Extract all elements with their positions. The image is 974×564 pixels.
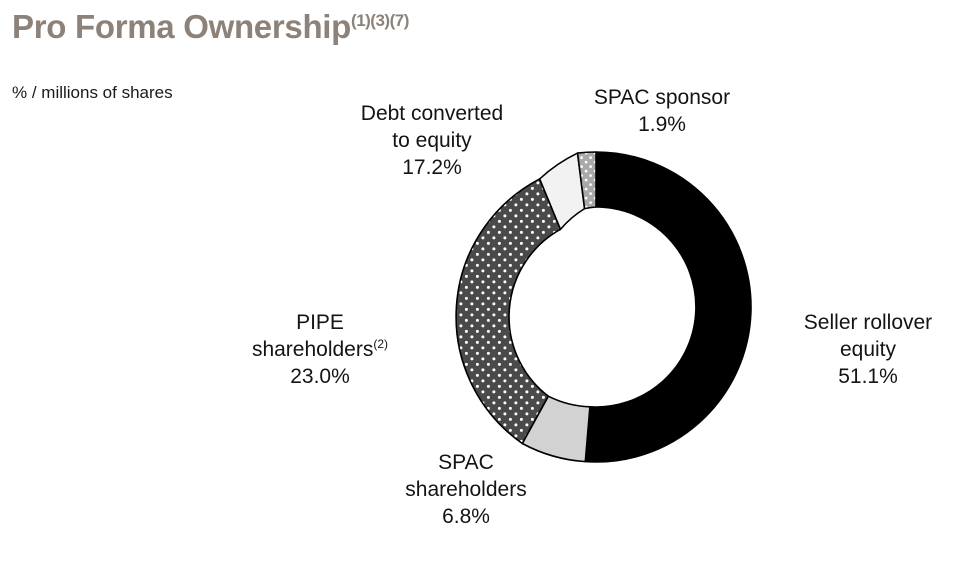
slice-label-line2-text: shareholders (252, 338, 373, 361)
slice-label-line1: SPAC sponsor (550, 85, 774, 112)
slice-label-line1: SPAC (358, 450, 574, 477)
slide-canvas: Pro Forma Ownership(1)(3)(7) % / million… (0, 0, 974, 564)
slice-label-line2: shareholders(2) (204, 337, 436, 364)
slice-label-value: 17.2% (318, 155, 546, 182)
slice-label-value: 51.1% (772, 364, 964, 391)
slice-label-spac-sponsor: SPAC sponsor 1.9% (550, 85, 774, 139)
slice-label-spac-shareholders: SPAC shareholders 6.8% (358, 450, 574, 531)
slice-seller-rollover-equity[interactable] (585, 152, 751, 462)
slice-label-value: 1.9% (550, 112, 774, 139)
slice-pipe-shareholders[interactable] (456, 179, 560, 444)
slice-label-line2: shareholders (358, 477, 574, 504)
pro-forma-ownership-donut-chart: Debt converted to equity 17.2% SPAC spon… (0, 0, 974, 564)
slice-label-line2: equity (772, 337, 964, 364)
slice-label-value: 23.0% (204, 364, 436, 391)
slice-label-pipe-shareholders: PIPE shareholders(2) 23.0% (204, 310, 436, 391)
slice-label-value: 6.8% (358, 504, 574, 531)
slice-label-line1: Seller rollover (772, 310, 964, 337)
slice-label-line1: PIPE (204, 310, 436, 337)
slice-label-seller-rollover-equity: Seller rollover equity 51.1% (772, 310, 964, 391)
donut-svg (431, 142, 761, 472)
slice-label-debt-converted-to-equity: Debt converted to equity 17.2% (318, 101, 546, 182)
slice-label-footnote-marker: (2) (373, 337, 388, 351)
slice-label-line1: Debt converted (318, 101, 546, 128)
slice-label-line2: to equity (318, 128, 546, 155)
